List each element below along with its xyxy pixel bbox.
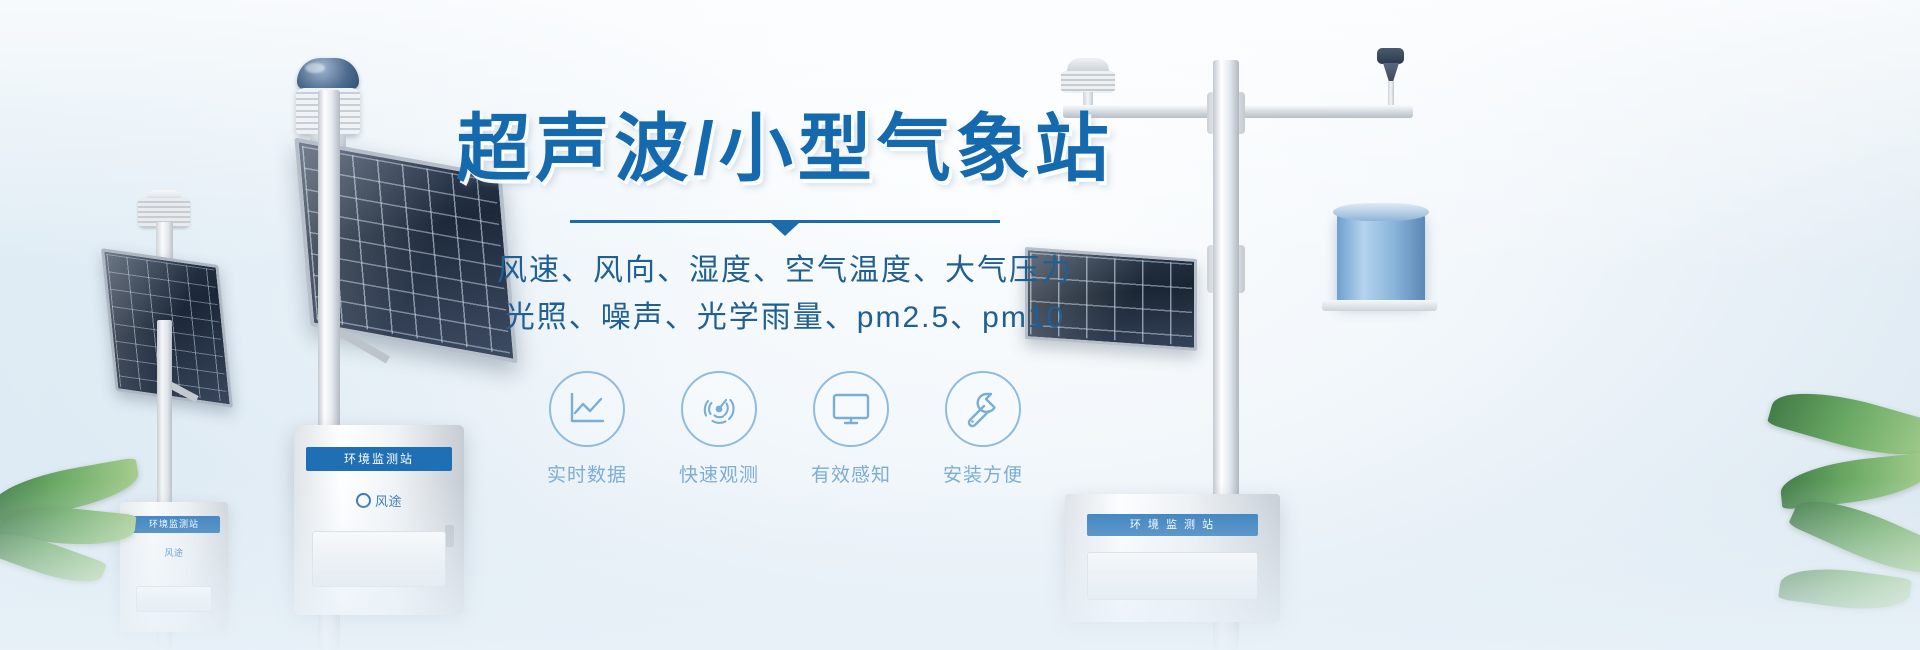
sky-dome-sensor-icon [297, 58, 359, 90]
monitor-display-icon [830, 391, 872, 427]
wrench-tool-icon [963, 389, 1003, 429]
caret-down-icon [771, 223, 799, 236]
feature-item-fast-observation[interactable]: 快速观测 [679, 371, 759, 487]
feature-icon-circle [549, 371, 625, 447]
feature-item-easy-installation[interactable]: 安装方便 [943, 371, 1023, 487]
banner-content: 超声波/小型气象站 风速、风向、湿度、空气温度、大气压力 光照、噪声、光学雨量、… [440, 0, 1130, 650]
feature-icon-circle [813, 371, 889, 447]
rain-gauge-sensor-icon [1337, 212, 1425, 304]
feature-label: 有效感知 [811, 460, 891, 487]
banner-subtitle-line-1: 风速、风向、湿度、空气温度、大气压力 [497, 248, 1073, 295]
feature-label: 实时数据 [547, 460, 627, 487]
divider-with-caret [570, 218, 1000, 236]
feature-icon-circle [945, 371, 1021, 447]
product-banner: 环境监测站 风途 环境监测站 风途 [0, 0, 1920, 650]
feature-list: 实时数据 快速观测 [547, 371, 1023, 487]
feature-icon-circle [681, 371, 757, 447]
line-chart-icon [567, 390, 607, 428]
feature-item-realtime-data[interactable]: 实时数据 [547, 371, 627, 487]
wind-vane-sensor-icon [1373, 48, 1407, 110]
feature-label: 快速观测 [679, 460, 759, 487]
banner-headline: 超声波/小型气象站 [456, 112, 1114, 186]
banner-subtitle-line-2: 光照、噪声、光学雨量、pm2.5、pm10 [505, 295, 1065, 342]
rain-gauge-platform [1322, 300, 1437, 311]
feature-label: 安装方便 [943, 460, 1023, 487]
radar-observation-icon [699, 389, 739, 429]
feature-item-effective-sensing[interactable]: 有效感知 [811, 371, 891, 487]
cabinet-label: 环境监测站 [306, 447, 452, 471]
